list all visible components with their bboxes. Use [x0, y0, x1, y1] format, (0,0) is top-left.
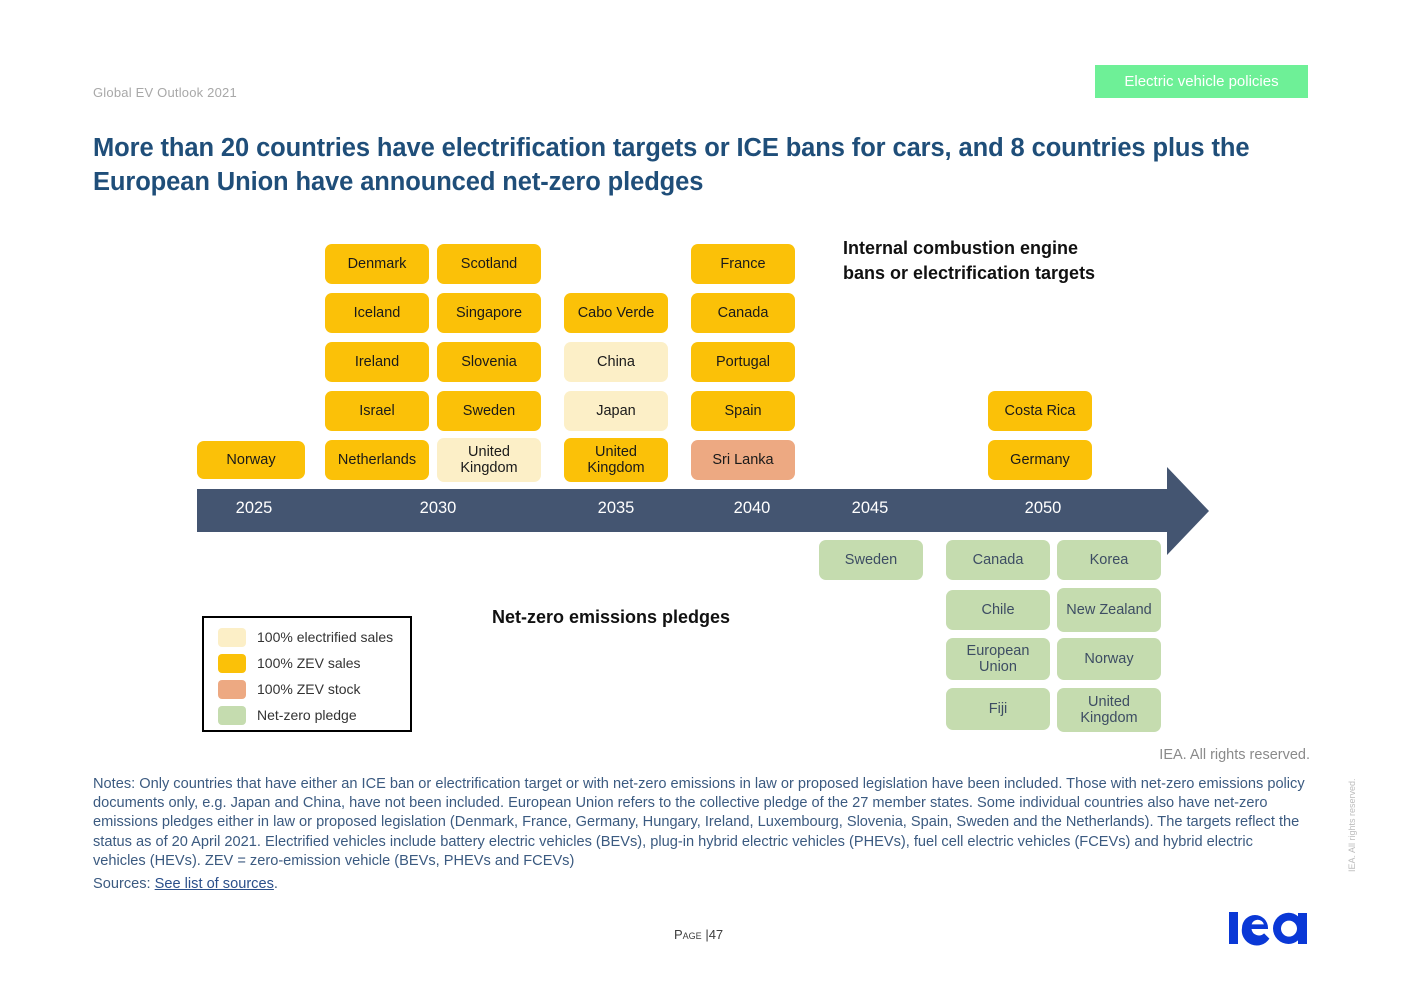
- axis-year-2045: 2045: [818, 499, 922, 518]
- legend: 100% electrified sales 100% ZEV sales 10…: [202, 616, 412, 732]
- axis-year-2040: 2040: [700, 499, 804, 518]
- netzero-box-fiji[interactable]: Fiji: [946, 688, 1050, 730]
- ice-box-france[interactable]: France: [691, 244, 795, 284]
- ice-box-slovenia[interactable]: Slovenia: [437, 342, 541, 382]
- page-number-prefix: Page: [674, 927, 702, 942]
- legend-label-netzero-pledge: Net-zero pledge: [257, 707, 357, 723]
- ice-box-costa-rica[interactable]: Costa Rica: [988, 391, 1092, 431]
- legend-item-zev-stock: 100% ZEV stock: [218, 676, 410, 702]
- netzero-box-chile[interactable]: Chile: [946, 590, 1050, 630]
- ice-targets-heading-line2: bans or electrification targets: [843, 261, 1095, 286]
- ice-box-israel[interactable]: Israel: [325, 391, 429, 431]
- axis-year-2030: 2030: [386, 499, 490, 518]
- ice-box-united-kingdom-2035[interactable]: United Kingdom: [564, 438, 668, 482]
- netzero-box-canada[interactable]: Canada: [946, 540, 1050, 580]
- ice-box-singapore[interactable]: Singapore: [437, 293, 541, 333]
- vertical-rights-reserved: IEA. All rights reserved.: [1347, 778, 1357, 872]
- netzero-box-sweden[interactable]: Sweden: [819, 540, 923, 580]
- netzero-box-norway[interactable]: Norway: [1057, 638, 1161, 680]
- legend-swatch-zev-sales: [218, 654, 246, 673]
- legend-swatch-electrified-sales: [218, 628, 246, 647]
- ice-box-cabo-verde[interactable]: Cabo Verde: [564, 293, 668, 333]
- ice-box-norway[interactable]: Norway: [197, 441, 305, 479]
- legend-label-zev-stock: 100% ZEV stock: [257, 681, 361, 697]
- rights-reserved-line: IEA. All rights reserved.: [1159, 747, 1310, 763]
- ice-box-sri-lanka[interactable]: Sri Lanka: [691, 440, 795, 480]
- ice-box-china[interactable]: China: [564, 342, 668, 382]
- ice-box-japan[interactable]: Japan: [564, 391, 668, 431]
- ice-targets-heading: Internal combustion engine bans or elect…: [843, 236, 1095, 286]
- page-number: Page |47: [674, 927, 723, 942]
- ice-box-netherlands[interactable]: Netherlands: [325, 440, 429, 480]
- netzero-heading: Net-zero emissions pledges: [492, 605, 730, 630]
- legend-item-electrified-sales: 100% electrified sales: [218, 624, 410, 650]
- ice-box-ireland[interactable]: Ireland: [325, 342, 429, 382]
- axis-year-2035: 2035: [564, 499, 668, 518]
- legend-label-electrified-sales: 100% electrified sales: [257, 629, 393, 645]
- axis-year-2050: 2050: [991, 499, 1095, 518]
- ice-box-denmark[interactable]: Denmark: [325, 244, 429, 284]
- netzero-box-new-zealand[interactable]: New Zealand: [1057, 588, 1161, 632]
- sources-link[interactable]: See list of sources: [155, 876, 274, 892]
- timeline-arrow-head: [1167, 467, 1209, 555]
- ice-box-iceland[interactable]: Iceland: [325, 293, 429, 333]
- sources-period: .: [274, 876, 278, 892]
- axis-year-2025: 2025: [202, 499, 306, 518]
- ice-box-united-kingdom-2030[interactable]: United Kingdom: [437, 438, 541, 482]
- notes-text: Notes: Only countries that have either a…: [93, 775, 1305, 871]
- ice-box-spain[interactable]: Spain: [691, 391, 795, 431]
- netzero-box-european-union[interactable]: European Union: [946, 638, 1050, 680]
- sources-label: Sources:: [93, 876, 151, 892]
- netzero-box-korea[interactable]: Korea: [1057, 540, 1161, 580]
- page-number-value: 47: [709, 927, 723, 942]
- ice-targets-heading-line1: Internal combustion engine: [843, 236, 1095, 261]
- ice-box-canada[interactable]: Canada: [691, 293, 795, 333]
- legend-item-netzero-pledge: Net-zero pledge: [218, 702, 410, 728]
- ice-box-germany[interactable]: Germany: [988, 440, 1092, 480]
- iea-logo: [1228, 908, 1312, 948]
- legend-swatch-zev-stock: [218, 680, 246, 699]
- sources-line: Sources: See list of sources.: [93, 876, 278, 892]
- netzero-box-united-kingdom-netzero[interactable]: United Kingdom: [1057, 688, 1161, 732]
- ice-box-sweden[interactable]: Sweden: [437, 391, 541, 431]
- ice-box-scotland[interactable]: Scotland: [437, 244, 541, 284]
- legend-swatch-netzero-pledge: [218, 706, 246, 725]
- legend-item-zev-sales: 100% ZEV sales: [218, 650, 410, 676]
- ice-box-portugal[interactable]: Portugal: [691, 342, 795, 382]
- legend-label-zev-sales: 100% ZEV sales: [257, 655, 361, 671]
